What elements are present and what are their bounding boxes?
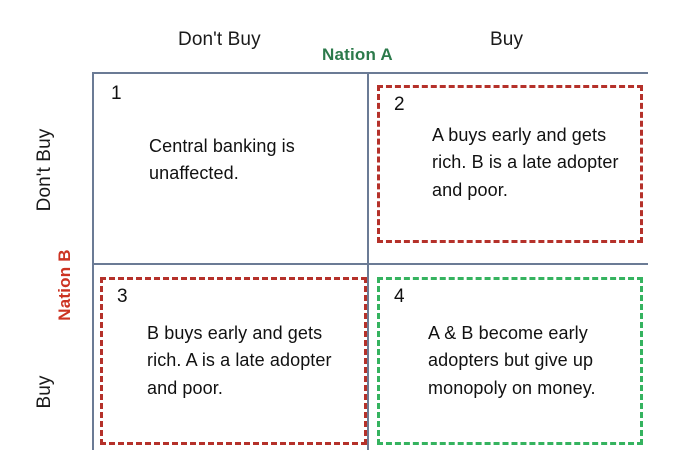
axis-title-nation-a: Nation A [322, 45, 393, 65]
row-header-dont-buy: Don't Buy [34, 129, 56, 212]
quadrant-number: 3 [117, 287, 128, 306]
quadrant-description: B buys early and gets rich. A is a late … [147, 320, 352, 402]
quadrant-description: A & B become early adopters but give up … [428, 320, 633, 402]
quadrant-cell-3: 3 B buys early and gets rich. A is a lat… [100, 277, 367, 445]
quadrant-number: 2 [394, 95, 405, 114]
quadrant-number: 4 [394, 287, 405, 306]
quadrant-cell-4: 4 A & B become early adopters but give u… [377, 277, 643, 445]
quadrant-cell-1: 1 Central banking is unaffected. [94, 74, 367, 263]
axis-title-nation-b: Nation B [55, 249, 75, 320]
quadrant-description: A buys early and gets rich. B is a late … [432, 122, 632, 204]
grid-line-horizontal-middle [92, 263, 648, 265]
row-header-buy: Buy [34, 375, 56, 408]
quadrant-number: 1 [111, 84, 122, 103]
payoff-matrix-diagram: Don't Buy Buy Nation A Nation B Don't Bu… [0, 0, 700, 474]
quadrant-cell-2: 2 A buys early and gets rich. B is a lat… [377, 85, 643, 243]
grid-line-vertical-middle [367, 72, 369, 450]
quadrant-description: Central banking is unaffected. [149, 133, 359, 188]
column-header-buy: Buy [490, 29, 523, 51]
column-header-dont-buy: Don't Buy [178, 29, 261, 51]
